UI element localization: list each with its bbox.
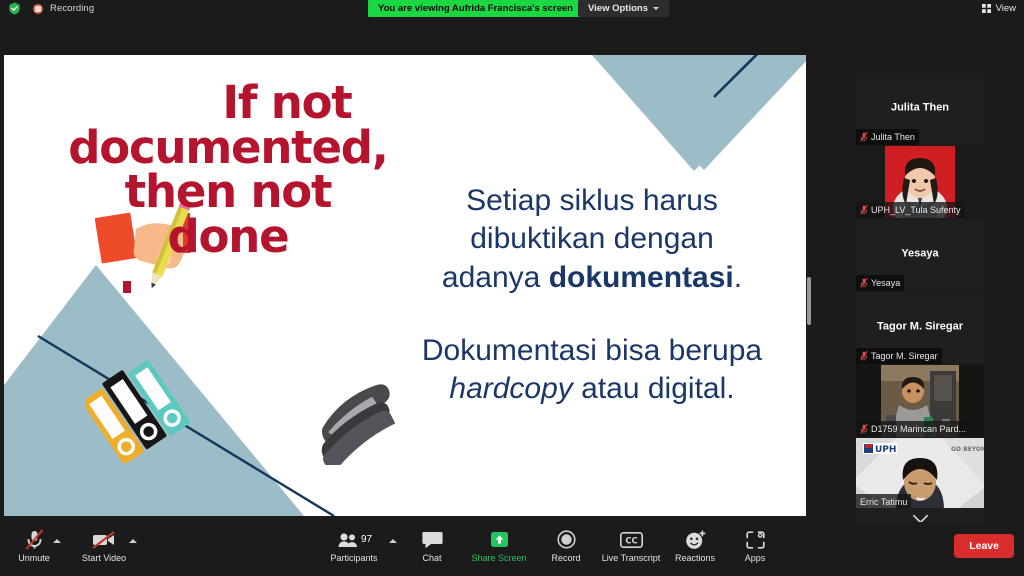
apps-label: Apps <box>745 554 766 563</box>
chevron-up-icon <box>389 539 397 543</box>
recording-indicator-icon[interactable] <box>33 4 43 14</box>
reactions-button[interactable]: Reactions <box>663 529 727 563</box>
viewing-screen-banner: You are viewing Aufrida Francisca's scre… <box>368 0 583 17</box>
slide-paragraph-2: Dokumentasi bisa berupa hardcopy atau di… <box>396 332 788 409</box>
chat-label: Chat <box>422 554 441 563</box>
leave-button[interactable]: Leave <box>954 534 1014 558</box>
participant-namebar: D1759 Marincan Pard... <box>856 421 970 437</box>
headline-line-4: done <box>18 215 438 260</box>
paragraph2-line2-suffix: atau digital. <box>573 372 735 405</box>
stapler-icon <box>310 375 410 465</box>
record-button[interactable]: Record <box>534 529 598 563</box>
participant-namebar: Yesaya <box>856 275 904 291</box>
share-screen-icon <box>489 529 510 550</box>
participants-label: Participants <box>330 554 377 563</box>
apps-button[interactable]: Apps <box>723 529 787 563</box>
chevron-up-icon <box>53 539 61 543</box>
headline-line-2: documented, <box>18 126 438 171</box>
mic-off-icon <box>860 351 868 361</box>
participants-filmstrip: Julita Then Julita Then <box>856 73 984 511</box>
participant-tile[interactable]: D1759 Marincan Pard... <box>856 365 984 437</box>
scrollbar-thumb[interactable] <box>807 277 811 325</box>
mic-off-icon <box>860 424 868 434</box>
meeting-toolbar: Unmute Start Video Participants 97 <box>0 522 1024 576</box>
participant-tile[interactable]: Tagor M. Siregar Tagor M. Siregar <box>856 292 984 364</box>
chat-button[interactable]: Chat <box>400 529 464 563</box>
paragraph1-line3-suffix: . <box>734 261 742 294</box>
share-screen-label: Share Screen <box>471 554 526 563</box>
paragraph1-line3-prefix: adanya <box>442 261 549 294</box>
paragraph1-emphasis: dokumentasi <box>549 261 734 294</box>
participant-name-label: Julita Then <box>871 132 915 142</box>
smiley-reaction-icon <box>685 529 706 550</box>
reactions-label: Reactions <box>675 554 715 563</box>
participant-tile[interactable]: UPH_LV_Tula Sufenty <box>856 146 984 218</box>
participants-count: 97 <box>361 534 372 545</box>
presentation-slide: If not documented, then not done Setiap … <box>4 55 810 516</box>
mic-off-icon <box>860 205 868 215</box>
grid-view-icon <box>982 4 991 13</box>
participant-namebar: Julita Then <box>856 129 919 145</box>
view-layout-button[interactable]: View <box>982 1 1016 16</box>
svg-text:UPH: UPH <box>875 445 896 455</box>
chevron-up-icon <box>129 539 137 543</box>
svg-text:GO BEYOND: GO BEYOND <box>951 446 984 453</box>
participant-name-label: Erric Tatimu <box>860 497 907 507</box>
top-bar: Recording You are viewing Aufrida Franci… <box>0 0 1024 17</box>
participant-tile[interactable]: Yesaya Yesaya <box>856 219 984 291</box>
participant-name-label: UPH_LV_Tula Sufenty <box>871 205 961 215</box>
participant-name-label: D1759 Marincan Pard... <box>871 424 966 434</box>
binders-icon <box>86 353 206 463</box>
recording-label: Recording <box>50 3 94 14</box>
unmute-button[interactable]: Unmute <box>2 529 66 563</box>
paragraph1-line-3: adanya dokumentasi. <box>406 259 778 297</box>
audio-options-caret[interactable] <box>52 536 62 546</box>
mic-off-icon <box>860 278 868 288</box>
start-video-button[interactable]: Start Video <box>72 529 136 563</box>
slide-paragraph-1: Setiap siklus harus dibuktikan dengan ad… <box>406 182 778 297</box>
participant-tile[interactable]: Julita Then Julita Then <box>856 73 984 145</box>
unmute-label: Unmute <box>18 554 50 563</box>
live-transcript-label: Live Transcript <box>602 554 661 563</box>
start-video-label: Start Video <box>82 554 126 563</box>
participant-name-label: Tagor M. Siregar <box>871 351 938 361</box>
video-options-caret[interactable] <box>128 536 138 546</box>
view-options-label: View Options <box>588 3 648 14</box>
zoom-meeting-window: Recording You are viewing Aufrida Franci… <box>0 0 1024 576</box>
headline-line-1: If not <box>18 81 438 126</box>
participant-namebar: Tagor M. Siregar <box>856 348 942 364</box>
paragraph2-italic: hardcopy <box>449 372 572 405</box>
chevron-down-icon <box>653 7 659 10</box>
paragraph1-line-1: Setiap siklus harus <box>406 182 778 220</box>
record-label: Record <box>551 554 580 563</box>
mic-off-icon <box>860 132 868 142</box>
view-button-label: View <box>996 3 1016 14</box>
slide-headline: If not documented, then not done <box>18 81 438 259</box>
paragraph2-line-2: hardcopy atau digital. <box>396 370 788 408</box>
participants-button[interactable]: Participants <box>322 529 386 563</box>
shared-screen-scrollbar[interactable] <box>806 55 812 516</box>
live-transcript-button[interactable]: CC Live Transcript <box>599 529 663 563</box>
participant-namebar: UPH_LV_Tula Sufenty <box>856 202 965 218</box>
paragraph1-line-2: dibuktikan dengan <box>406 220 778 258</box>
closed-caption-icon: CC <box>620 529 643 550</box>
participant-name-label: Yesaya <box>871 278 900 288</box>
shield-check-icon[interactable] <box>0 2 21 15</box>
shared-screen-content[interactable]: If not documented, then not done Setiap … <box>4 55 810 516</box>
participant-center-name: Tagor M. Siregar <box>856 321 984 333</box>
apps-icon <box>746 529 765 550</box>
record-circle-icon <box>557 529 576 550</box>
participant-center-name: Yesaya <box>856 248 984 260</box>
svg-text:CC: CC <box>625 535 637 545</box>
share-screen-button[interactable]: Share Screen <box>467 529 531 563</box>
view-options-button[interactable]: View Options <box>578 0 669 17</box>
participants-options-caret[interactable] <box>388 536 398 546</box>
headline-line-3: then not <box>18 170 438 215</box>
paragraph2-line-1: Dokumentasi bisa berupa <box>396 332 788 370</box>
chat-bubble-icon <box>422 529 443 550</box>
participant-center-name: Julita Then <box>856 102 984 114</box>
mic-off-icon <box>25 529 44 550</box>
video-off-icon <box>92 529 116 550</box>
participant-tile-active-speaker[interactable]: UPH GO BEYOND Erric Tatimu <box>856 438 984 510</box>
